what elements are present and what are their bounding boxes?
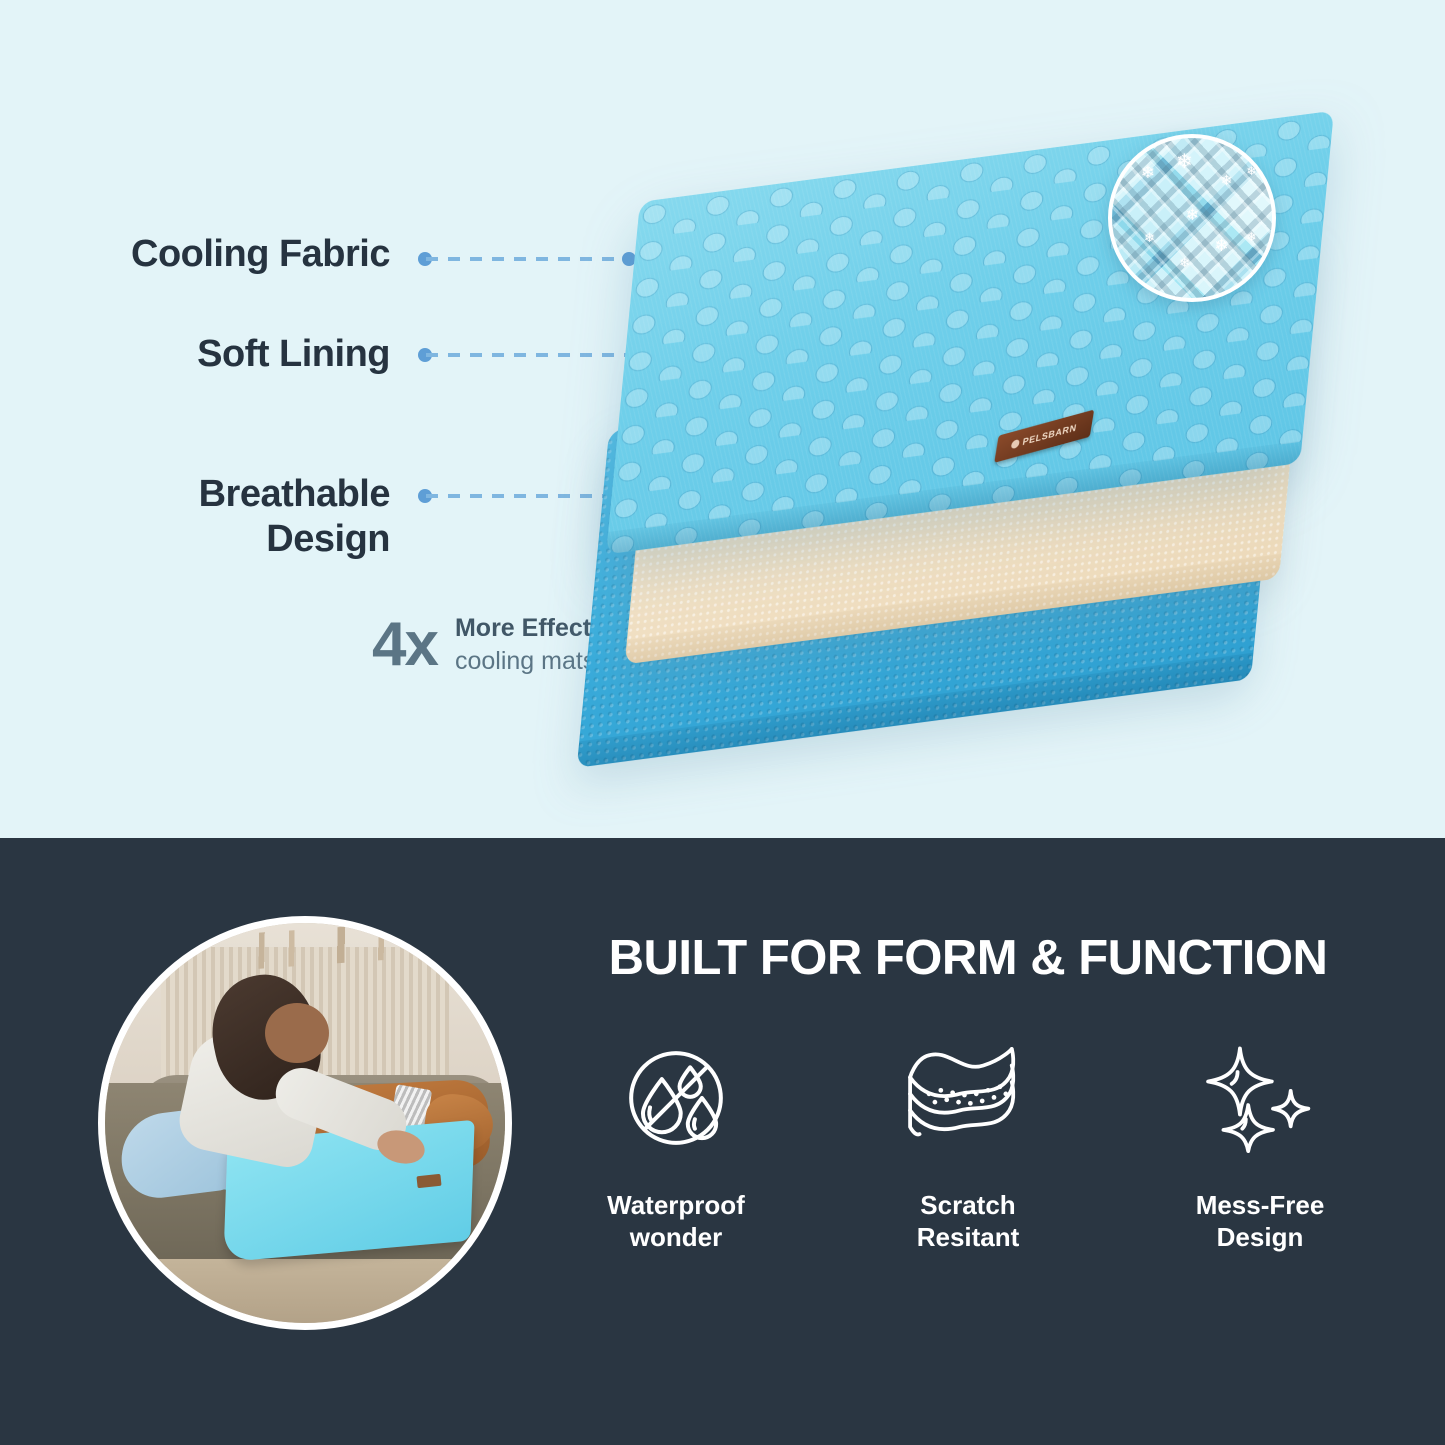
feature-label-waterproof: Waterproof wonder xyxy=(607,1190,745,1253)
snowflake-icon: ❄ xyxy=(1221,173,1233,187)
feature-label-line2: Resitant xyxy=(917,1222,1020,1254)
snowflake-icon: ❄ xyxy=(1246,231,1256,243)
callout-label-breathable-line2: Design xyxy=(30,517,390,562)
waterproof-icon xyxy=(617,1028,735,1168)
paw-icon xyxy=(1011,439,1020,450)
product-layer-stack: PELSBARN ❄ ❄ ❄ ❄ ❄ ❄ ❄ ❄ ❄ xyxy=(560,120,1440,740)
snowflake-icon: ❄ xyxy=(1176,152,1193,172)
lifestyle-photo xyxy=(98,916,512,1330)
feature-label-line1: Scratch xyxy=(917,1190,1020,1222)
base-layer-edge xyxy=(577,653,1254,768)
feature-label-scratch-resistant: Scratch Resitant xyxy=(917,1190,1020,1253)
callout-label-breathable-design: Breathable Design xyxy=(30,472,390,562)
fabric-weave-snowflake-macro-inset: ❄ ❄ ❄ ❄ ❄ ❄ ❄ ❄ ❄ xyxy=(1108,134,1276,302)
feature-waterproof: Waterproof wonder xyxy=(548,1028,804,1253)
feature-label-line2: Design xyxy=(1196,1222,1325,1254)
feature-label-mess-free: Mess-Free Design xyxy=(1196,1190,1325,1253)
snowflake-icon: ❄ xyxy=(1246,165,1256,177)
features-section: BUILT FOR FORM & FUNCTION Waterproof xyxy=(0,838,1445,1445)
snowflake-icon: ❄ xyxy=(1141,164,1155,181)
snowflake-icon: ❄ xyxy=(1186,208,1199,224)
snowflake-icon: ❄ xyxy=(1179,256,1190,269)
scratch-resistant-fabric-icon xyxy=(903,1028,1033,1168)
section-headline: BUILT FOR FORM & FUNCTION xyxy=(548,930,1388,986)
callout-label-cooling-fabric: Cooling Fabric xyxy=(30,232,390,277)
snowflake-icon: ❄ xyxy=(1214,237,1228,254)
feature-label-line1: Waterproof xyxy=(607,1190,745,1222)
sparkles-icon xyxy=(1201,1028,1319,1168)
callout-label-soft-lining: Soft Lining xyxy=(30,332,390,377)
product-layers-section: Cooling Fabric Soft Lining Breathable De… xyxy=(0,0,1445,838)
infographic-page: Cooling Fabric Soft Lining Breathable De… xyxy=(0,0,1445,1445)
feature-list: Waterproof wonder xyxy=(548,1028,1388,1253)
feature-scratch-resistant: Scratch Resitant xyxy=(840,1028,1096,1253)
feature-mess-free: Mess-Free Design xyxy=(1132,1028,1388,1253)
feature-label-line2: wonder xyxy=(607,1222,745,1254)
snowflake-icon: ❄ xyxy=(1144,231,1155,244)
feature-label-line1: Mess-Free xyxy=(1196,1190,1325,1222)
callout-label-group: Cooling Fabric Soft Lining Breathable De… xyxy=(0,0,400,838)
callout-label-breathable-line1: Breathable xyxy=(30,472,390,517)
stat-multiplier: 4x xyxy=(372,614,437,676)
